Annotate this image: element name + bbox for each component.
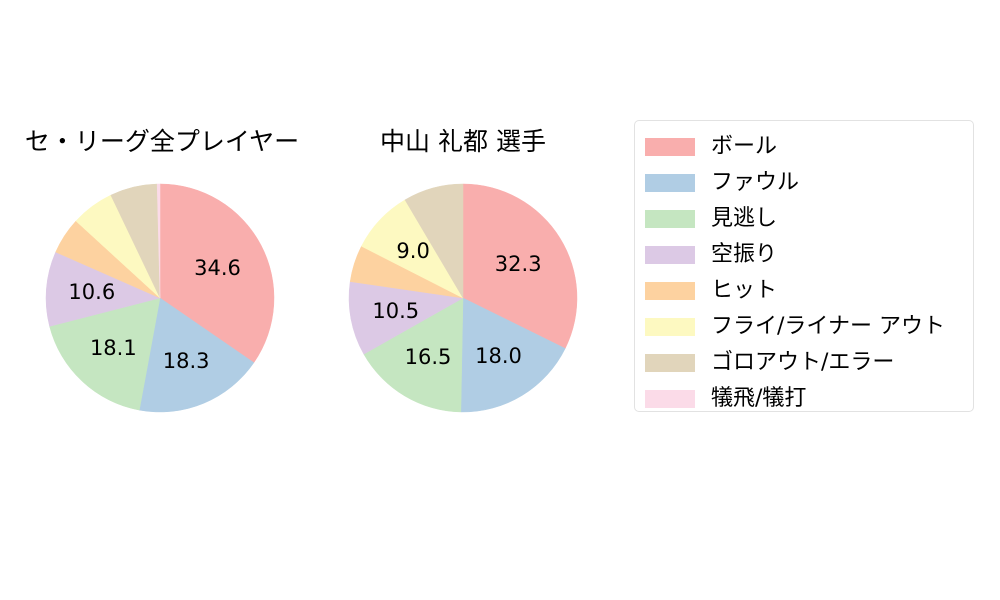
legend-item[interactable]: 見逃し <box>645 201 777 237</box>
legend-item-label: ヒット <box>711 280 777 302</box>
legend-swatch <box>645 210 695 228</box>
legend-item-label: ボール <box>711 136 777 158</box>
legend-item[interactable]: 空振り <box>645 237 777 273</box>
legend-item[interactable]: ゴロアウト/エラー <box>645 345 894 381</box>
legend-swatch <box>645 282 695 300</box>
legend-item-label: 見逃し <box>711 208 777 230</box>
legend: ボールファウル見逃し空振りヒットフライ/ライナー アウトゴロアウト/エラー犠飛/… <box>634 120 974 412</box>
legend-swatch <box>645 138 695 156</box>
legend-item-label: 犠飛/犠打 <box>711 388 806 410</box>
legend-swatch <box>645 390 695 408</box>
chart-title-player: 中山 礼都 選手 <box>380 122 546 158</box>
legend-item[interactable]: ボール <box>645 129 777 165</box>
legend-item[interactable]: フライ/ライナー アウト <box>645 309 945 345</box>
legend-item[interactable]: ファウル <box>645 165 799 201</box>
legend-item-label: ゴロアウト/エラー <box>711 352 894 374</box>
legend-item[interactable]: ヒット <box>645 273 777 309</box>
legend-item-label: フライ/ライナー アウト <box>711 316 945 338</box>
pie-chart-league <box>43 181 277 415</box>
legend-swatch <box>645 354 695 372</box>
pie-chart-figure: セ・リーグ全プレイヤー 34.618.318.110.6 中山 礼都 選手 32… <box>0 0 1000 600</box>
legend-item-label: 空振り <box>711 244 777 266</box>
pie-chart-player <box>346 181 580 415</box>
legend-item[interactable]: 犠飛/犠打 <box>645 381 806 417</box>
legend-item-label: ファウル <box>711 172 799 194</box>
chart-title-league: セ・リーグ全プレイヤー <box>25 122 299 158</box>
legend-swatch <box>645 174 695 192</box>
legend-swatch <box>645 246 695 264</box>
legend-swatch <box>645 318 695 336</box>
